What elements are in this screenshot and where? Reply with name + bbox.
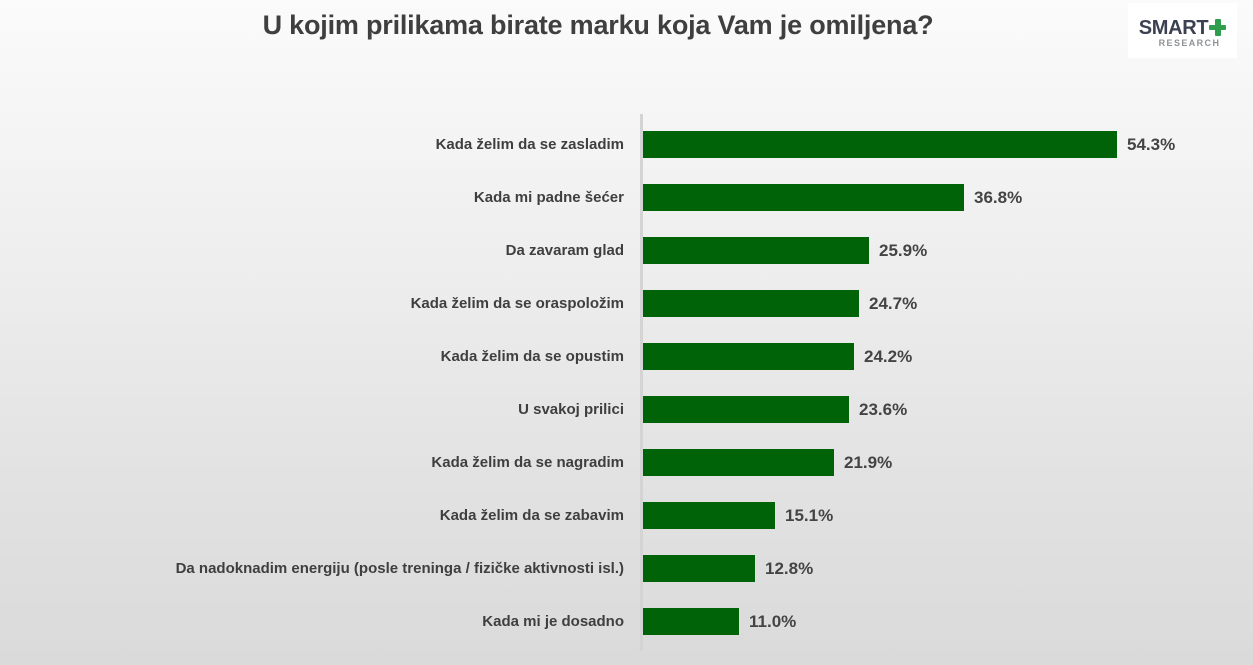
bar-category-label: Kada mi padne šećer — [474, 184, 624, 211]
bar-category-label: Kada želim da se oraspoložim — [411, 290, 624, 317]
bar-row: Kada želim da se oraspoložim24.7% — [0, 290, 1253, 317]
bar — [643, 502, 775, 529]
bar-category-label: Da zavaram glad — [506, 237, 624, 264]
bar — [643, 396, 849, 423]
bar-category-label: Kada želim da se opustim — [441, 343, 624, 370]
bar-value-label: 24.7% — [869, 290, 917, 317]
bar-row: Kada želim da se zabavim15.1% — [0, 502, 1253, 529]
bar-series: Kada želim da se zasladim54.3%Kada mi pa… — [0, 0, 1253, 665]
bar-category-label: Kada želim da se nagradim — [431, 449, 624, 476]
bar — [643, 608, 739, 635]
bar-value-label: 23.6% — [859, 396, 907, 423]
bar-value-label: 25.9% — [879, 237, 927, 264]
bar-category-label: Kada želim da se zasladim — [436, 131, 624, 158]
bar — [643, 131, 1117, 158]
bar-value-label: 12.8% — [765, 555, 813, 582]
bar-row: U svakoj prilici23.6% — [0, 396, 1253, 423]
bar — [643, 184, 964, 211]
bar-row: Kada mi je dosadno11.0% — [0, 608, 1253, 635]
bar — [643, 290, 859, 317]
bar — [643, 343, 854, 370]
bar-value-label: 24.2% — [864, 343, 912, 370]
bar-row: Kada mi padne šećer36.8% — [0, 184, 1253, 211]
bar-category-label: Da nadoknadim energiju (posle treninga /… — [176, 555, 624, 582]
bar-value-label: 54.3% — [1127, 131, 1175, 158]
bar-row: Da zavaram glad25.9% — [0, 237, 1253, 264]
bar-value-label: 15.1% — [785, 502, 833, 529]
bar — [643, 449, 834, 476]
bar-value-label: 11.0% — [749, 608, 796, 635]
bar-row: Kada želim da se nagradim21.9% — [0, 449, 1253, 476]
bar-row: Kada želim da se zasladim54.3% — [0, 131, 1253, 158]
bar-category-label: U svakoj prilici — [518, 396, 624, 423]
bar — [643, 555, 755, 582]
bar-value-label: 36.8% — [974, 184, 1022, 211]
bar-category-label: Kada želim da se zabavim — [440, 502, 624, 529]
bar-category-label: Kada mi je dosadno — [482, 608, 624, 635]
bar-value-label: 21.9% — [844, 449, 892, 476]
chart-canvas: U kojim prilikama birate marku koja Vam … — [0, 0, 1253, 665]
bar — [643, 237, 869, 264]
bar-row: Da nadoknadim energiju (posle treninga /… — [0, 555, 1253, 582]
bar-row: Kada želim da se opustim24.2% — [0, 343, 1253, 370]
